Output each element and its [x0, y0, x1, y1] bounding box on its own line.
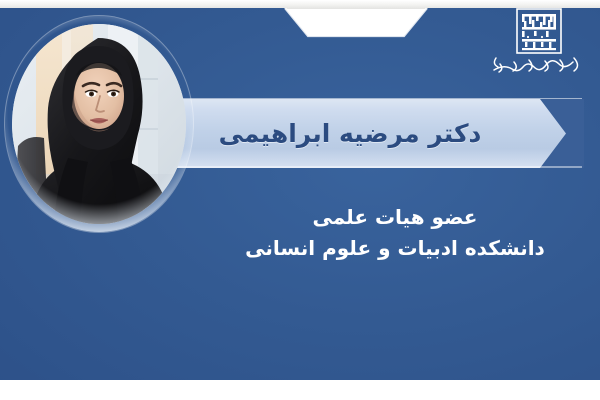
subtitle-block: عضو هیات علمی دانشکده ادبیات و علوم انسا… [210, 202, 580, 264]
portrait-ring-border [5, 16, 193, 232]
profile-banner-stage: دکتر مرضیه ابراهیمی عضو هیات علمی دانشکد… [0, 0, 600, 400]
shahid-beheshti-university-logo [488, 6, 588, 82]
portrait-avatar [5, 16, 193, 232]
subtitle-line-position: عضو هیات علمی [210, 202, 580, 232]
subtitle-line-faculty: دانشکده ادبیات و علوم انسانی [210, 232, 580, 264]
faculty-name-text: دکتر مرضیه ابراهیمی [150, 99, 550, 168]
